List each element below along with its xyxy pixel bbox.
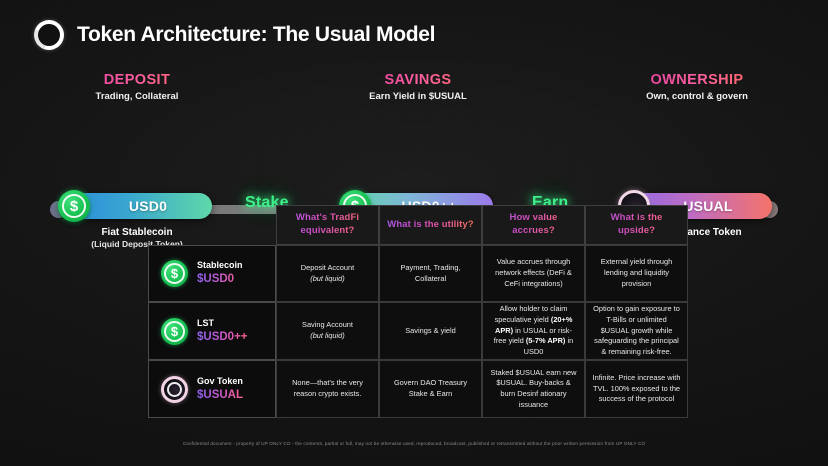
table-row: $ Stablecoin $USD0 Deposit Account (but … xyxy=(148,245,688,302)
usual-ring-logo-icon xyxy=(29,15,69,55)
table-cell-accrues-stablecoin: Value accrues through network effects (D… xyxy=(482,245,585,302)
table-header-upside: What is the upside? xyxy=(585,205,688,245)
page-title: Token Architecture: The Usual Model xyxy=(77,23,435,47)
table-cell-upside-govtoken: Infinite. Price increase with TVL. 100% … xyxy=(585,360,688,418)
table-rowlabel-lst: $ LST $USD0++ xyxy=(148,302,276,360)
table-cell-utility-govtoken: Govern DAO Treasury Stake & Earn xyxy=(379,360,482,418)
usual-ring-logo-icon xyxy=(161,376,188,403)
table-header-upside-label: What is the upside? xyxy=(586,203,687,247)
table-cell-upside-stablecoin: External yield through lending and liqui… xyxy=(585,245,688,302)
usd-coin-icon: $ xyxy=(58,190,90,222)
rowlabel-ticker-usd0: $USD0 xyxy=(197,272,243,286)
rowlabel-ticker-usual: $USUAL xyxy=(197,388,243,402)
table-rowlabel-govtoken: Gov Token $USUAL xyxy=(148,360,276,418)
rowlabel-kind-stablecoin: Stablecoin xyxy=(197,260,243,271)
stage-subtitle-savings: Earn Yield in $USUAL xyxy=(343,91,493,102)
stage-kicker-deposit: DEPOSIT xyxy=(62,72,212,88)
comparison-table: What's TradFi equivalent? What is the ut… xyxy=(148,205,688,418)
table-cell-accrues-govtoken: Staked $USUAL earn new $USUAL. Buy-backs… xyxy=(482,360,585,418)
table-row: $ LST $USD0++ Saving Account (but liquid… xyxy=(148,302,688,360)
cell-text-main: Saving Account xyxy=(302,320,353,329)
table-cell-upside-lst: Option to gain exposure to T-Bills or un… xyxy=(585,302,688,360)
flow-stage-savings: SAVINGS Earn Yield in $USUAL xyxy=(343,72,493,102)
table-header-utility: What is the utility? xyxy=(379,205,482,245)
flow-stage-ownership: OWNERSHIP Own, control & govern xyxy=(622,72,772,102)
table-cell-accrues-lst: Allow holder to claim speculative yield … xyxy=(482,302,585,360)
table-header-accrues-label: How value accrues? xyxy=(483,203,584,247)
rowlabel-ticker-usd0pp: $USD0++ xyxy=(197,330,248,344)
table-cell-tradfi-govtoken: None—that's the very reason crypto exist… xyxy=(276,360,379,418)
rowlabel-kind-govtoken: Gov Token xyxy=(197,376,243,387)
table-header-row: What's TradFi equivalent? What is the ut… xyxy=(148,205,688,245)
token-flow-diagram: DEPOSIT Trading, Collateral SAVINGS Earn… xyxy=(0,72,828,187)
table-cell-utility-lst: Savings & yield xyxy=(379,302,482,360)
footer-disclaimer: Confidential document - property of UP O… xyxy=(0,441,828,446)
table-cell-tradfi-stablecoin: Deposit Account (but liquid) xyxy=(276,245,379,302)
stage-kicker-ownership: OWNERSHIP xyxy=(622,72,772,88)
table-header-accrues: How value accrues? xyxy=(482,205,585,245)
stage-subtitle-ownership: Own, control & govern xyxy=(622,91,772,102)
cell-text-italic: (but liquid) xyxy=(310,331,345,340)
usd-coin-icon: $ xyxy=(161,318,188,345)
flow-stage-deposit: DEPOSIT Trading, Collateral xyxy=(62,72,212,102)
cell-text-italic: (but liquid) xyxy=(310,274,345,283)
table-header-utility-label: What is the utility? xyxy=(380,210,481,241)
table-cell-utility-stablecoin: Payment, Trading, Collateral xyxy=(379,245,482,302)
table-cell-tradfi-lst: Saving Account (but liquid) xyxy=(276,302,379,360)
stage-kicker-savings: SAVINGS xyxy=(343,72,493,88)
table-header-tradfi: What's TradFi equivalent? xyxy=(276,205,379,245)
accrues-apr-riskfree: (5-7% APR) xyxy=(526,336,566,345)
usd-coin-icon: $ xyxy=(161,260,188,287)
table-header-tradfi-label: What's TradFi equivalent? xyxy=(277,203,378,247)
table-corner-spacer xyxy=(148,205,276,245)
cell-text-main: Deposit Account xyxy=(301,263,354,272)
slide-header: Token Architecture: The Usual Model xyxy=(34,20,435,50)
table-row: Gov Token $USUAL None—that's the very re… xyxy=(148,360,688,418)
stage-subtitle-deposit: Trading, Collateral xyxy=(62,91,212,102)
table-rowlabel-stablecoin: $ Stablecoin $USD0 xyxy=(148,245,276,302)
rowlabel-kind-lst: LST xyxy=(197,318,248,329)
